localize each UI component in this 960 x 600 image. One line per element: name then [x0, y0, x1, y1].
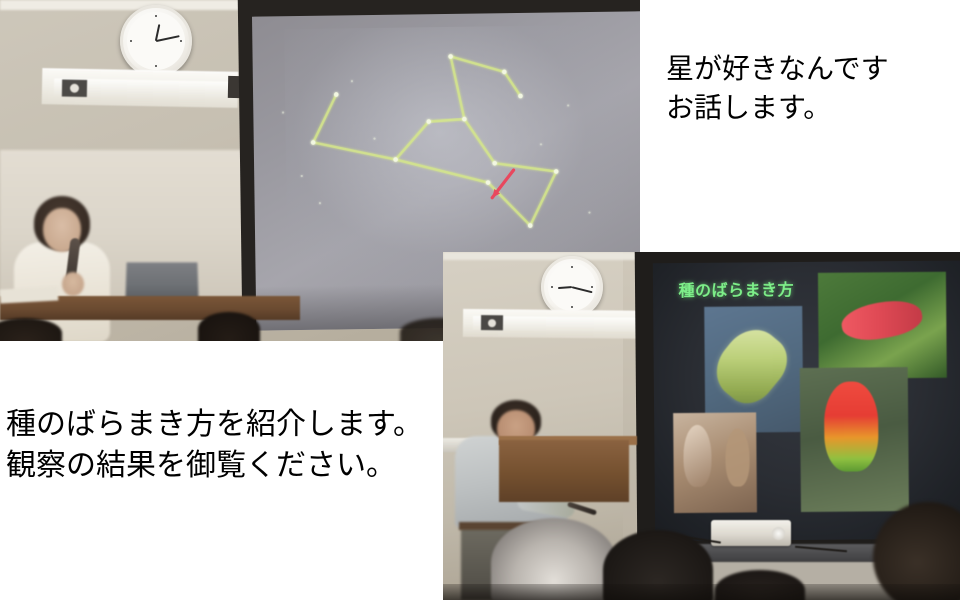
banner-badge-icon: [481, 315, 503, 330]
audience-head: [198, 312, 260, 341]
wooden-podium: [499, 440, 629, 502]
laptop-computer: [125, 262, 198, 300]
projector-device: [711, 520, 791, 546]
banner-badge-icon: [62, 80, 87, 97]
clock-hour-hand: [558, 286, 572, 289]
clock-minute-hand: [572, 286, 593, 293]
wall-banner-rail: [42, 68, 239, 108]
wall-clock: [541, 256, 603, 318]
caption-astronomy: 星が好きなんです お話します。: [666, 50, 889, 127]
wall-clock: [120, 5, 192, 77]
page-canvas: 種のばらまき方 星が好きなんです お話します。 種のばらまき方を紹介します。 観…: [0, 0, 960, 600]
clock-face: [548, 263, 596, 311]
presenter-hand: [62, 272, 84, 296]
caption-seed-dispersal: 種のばらまき方を紹介します。 観察の結果を御覧ください。: [6, 404, 423, 487]
presentation-slide: 種のばらまき方: [653, 261, 960, 542]
red-berry-cluster-photo: [800, 367, 909, 512]
red-flower-photo: [818, 272, 946, 379]
seed-dispersal-lecture-photo: 種のばらまき方: [443, 252, 960, 600]
slide-title: 種のばらまき方: [678, 276, 794, 301]
brown-seed-pods-photo: [673, 413, 757, 514]
clock-face: [127, 12, 185, 70]
clock-minute-hand: [156, 35, 180, 42]
ceiling-strip: [0, 0, 250, 10]
foreground-shadow: [443, 584, 960, 600]
